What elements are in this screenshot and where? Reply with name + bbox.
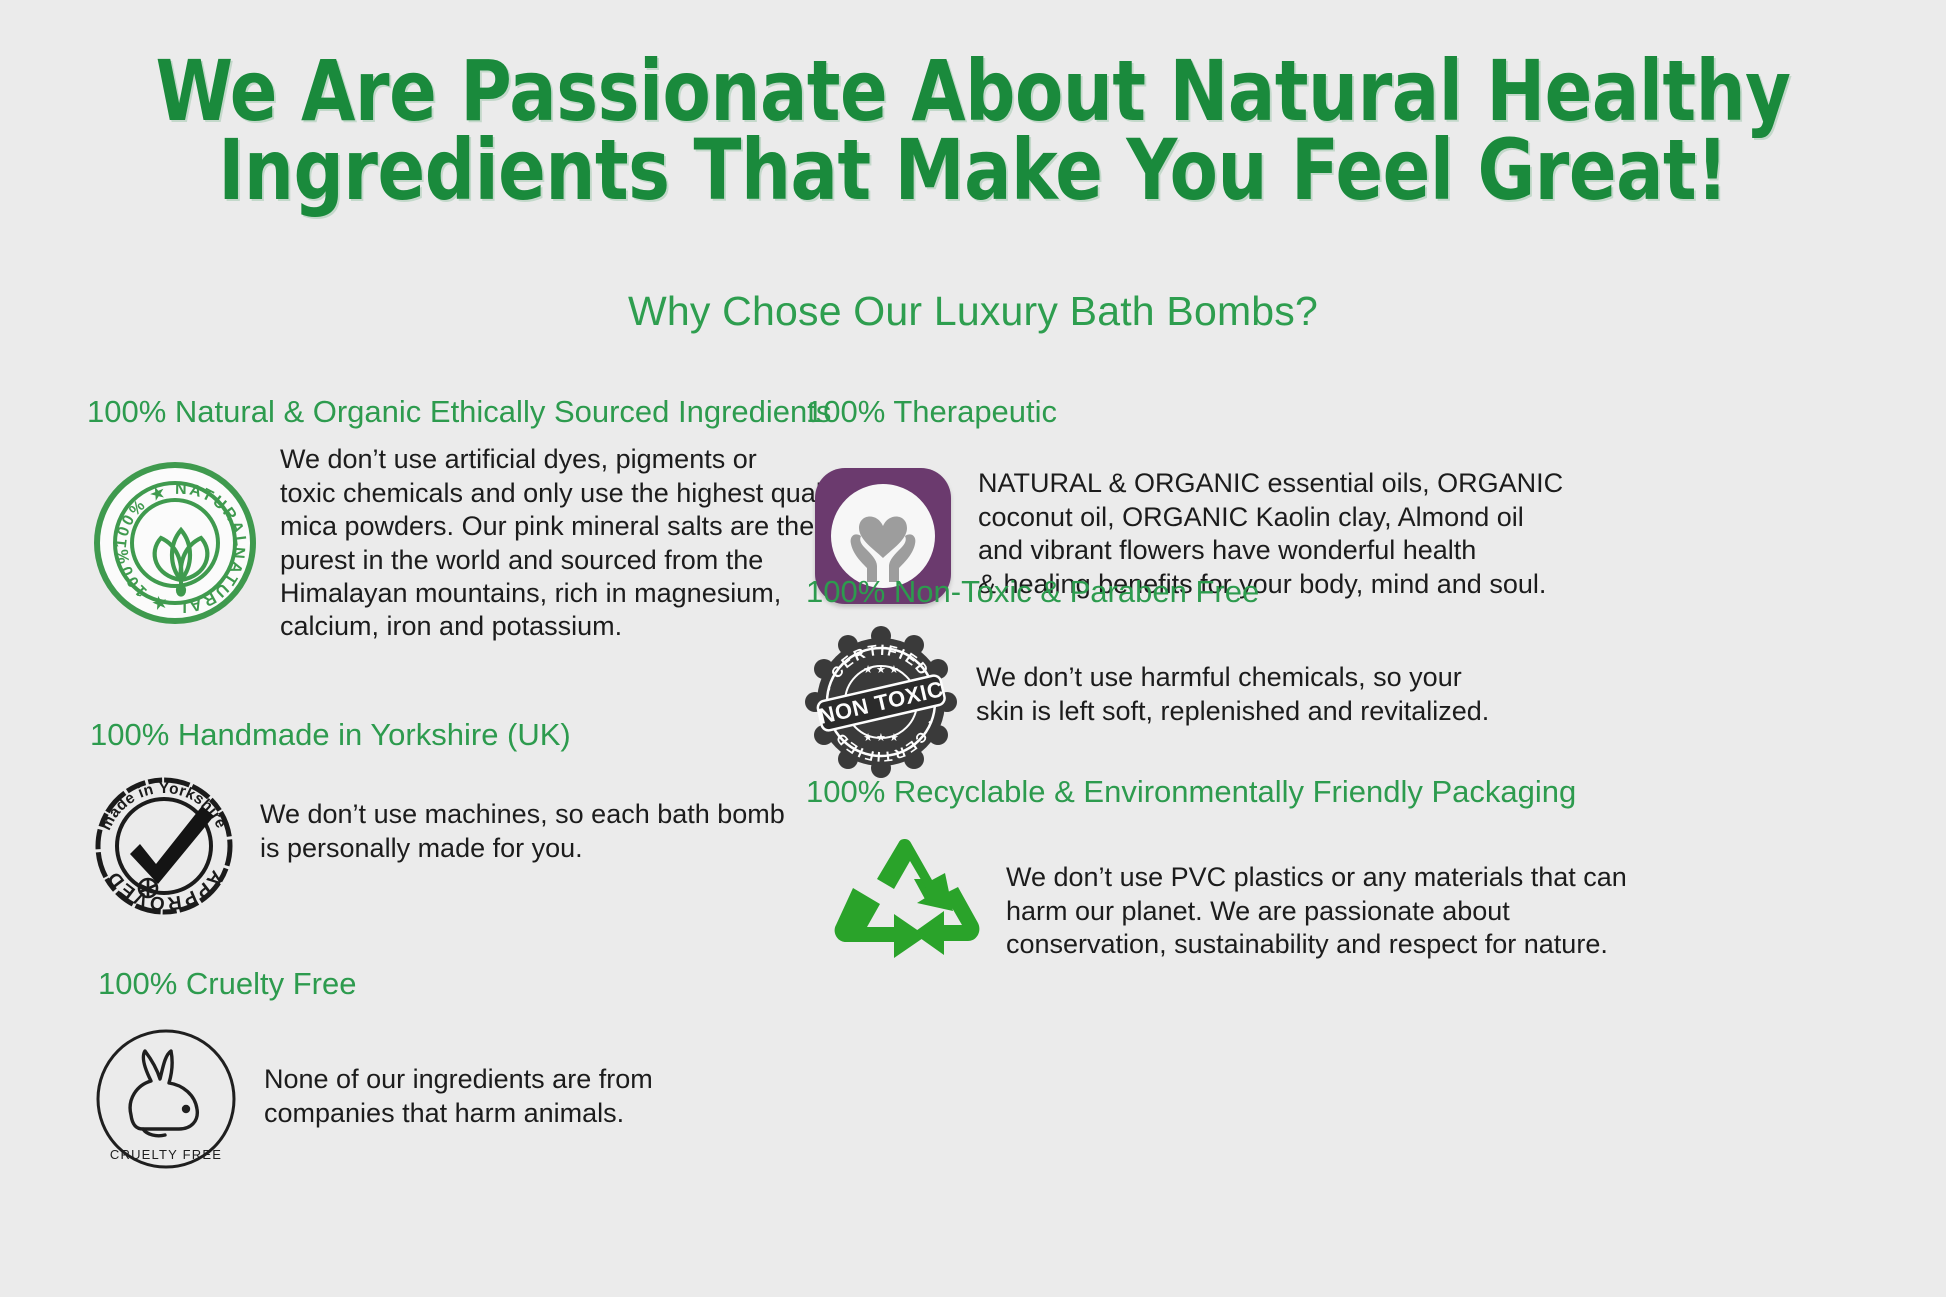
feature-cruelty-free: 100% Cruelty Free CRUELTY FR [98,967,653,1181]
certified-non-toxic-stamp-icon: · CERTIFIED · · CERTIFIED · NON TOXIC [810,631,952,773]
recyclable-badge [824,831,990,981]
page-title-line-1: We Are Passionate About Natural Healthy [68,52,1878,131]
natural-stamp-badge: 100% ★ NATURAL NATURAL ★ 100% [86,453,264,633]
page-title: We Are Passionate About Natural Healthy … [68,52,1878,210]
features-grid: 100% Natural & Organic Ethically Sourced… [0,395,1946,1275]
svg-text:made in Yorkshire: made in Yorkshire [97,780,229,833]
svg-text:★ ★ ★: ★ ★ ★ [863,664,899,676]
feature-cruelty-free-heading: 100% Cruelty Free [98,967,653,1001]
cruelty-free-rabbit-icon: CRUELTY FREE [87,1023,245,1179]
feature-therapeutic-heading: 100% Therapeutic [806,395,1563,429]
cruelty-free-badge-label: CRUELTY FREE [110,1147,222,1162]
cruelty-free-badge: CRUELTY FREE [80,1021,252,1181]
page-subtitle: Why Chose Our Luxury Bath Bombs? [0,288,1946,335]
infographic-page: We Are Passionate About Natural Healthy … [0,0,1946,1297]
yorkshire-approved-stamp-icon: made in Yorkshire APPROVED [90,772,242,920]
feature-recyclable-body: We don’t use PVC plastics or any materia… [1006,861,1627,961]
feature-handmade-yorkshire: 100% Handmade in Yorkshire (UK) [90,718,785,922]
page-title-line-2: Ingredients That Make You Feel Great! [68,131,1878,210]
svg-text:★ ★ ★: ★ ★ ★ [863,732,899,744]
feature-cruelty-free-body: None of our ingredients are from compani… [264,1063,653,1130]
non-toxic-badge: · CERTIFIED · · CERTIFIED · NON TOXIC [806,627,956,777]
feature-natural-organic-heading: 100% Natural & Organic Ethically Sourced… [87,395,849,429]
feature-recyclable-heading: 100% Recyclable & Environmentally Friend… [806,775,1627,809]
feature-non-toxic: 100% Non-Toxic & Paraben Free [806,575,1489,777]
feature-natural-organic: 100% Natural & Organic Ethically Sourced… [90,395,849,644]
feature-handmade-yorkshire-heading: 100% Handmade in Yorkshire (UK) [90,718,785,752]
feature-non-toxic-heading: 100% Non-Toxic & Paraben Free [806,575,1489,609]
feature-non-toxic-body: We don’t use harmful chemicals, so your … [976,661,1489,728]
svg-text:100% ★ NATURAL: 100% ★ NATURAL [113,481,249,549]
feature-handmade-yorkshire-body: We don’t use machines, so each bath bomb… [260,798,785,865]
feature-recyclable: 100% Recyclable & Environmentally Friend… [806,775,1627,981]
feature-natural-organic-body: We don’t use artificial dyes, pigments o… [280,443,849,644]
yorkshire-approved-badge: made in Yorkshire APPROVED [84,770,248,922]
natural-stamp-icon: 100% ★ NATURAL NATURAL ★ 100% [94,462,256,624]
recycling-symbol-icon [831,837,983,975]
